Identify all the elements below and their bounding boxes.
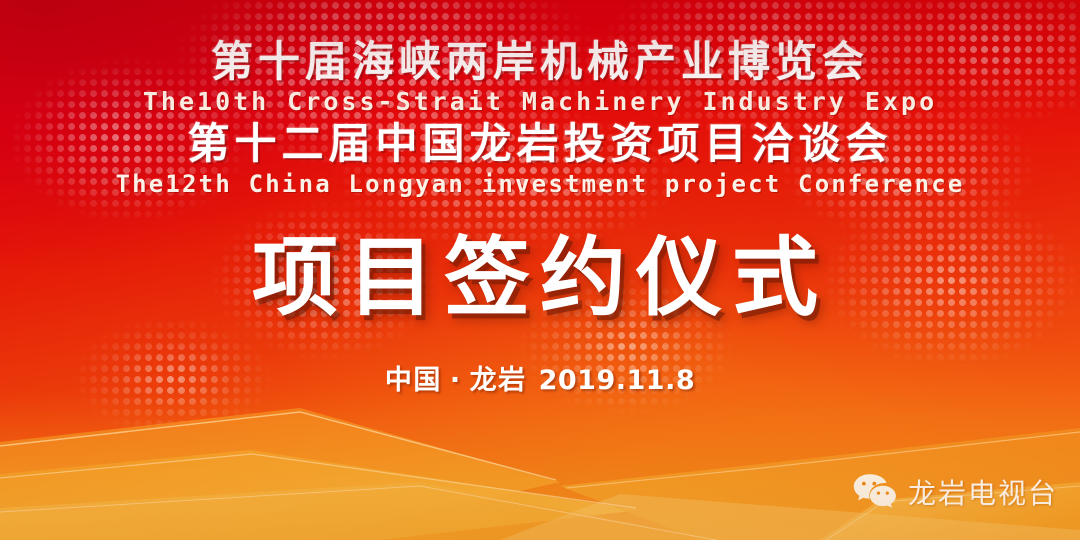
headline-cn-expo: 第十届海峡两岸机械产业博览会 [0, 38, 1080, 86]
header-text-block: 第十届海峡两岸机械产业博览会 The10th Cross-Strait Mach… [0, 38, 1080, 200]
location-city: 龙岩 [470, 365, 527, 396]
headline-en-expo: The10th Cross-Strait Machinery Industry … [0, 86, 1080, 118]
watermark: 龙岩电视台 [852, 472, 1058, 512]
location-separator: · [450, 365, 462, 396]
main-title: 项目签约仪式 [0, 228, 1080, 328]
watermark-label: 龙岩电视台 [908, 472, 1058, 512]
date-location-line: 中国·龙岩2019.11.8 [0, 365, 1080, 397]
ribbon-band-decoration [0, 390, 1080, 540]
location-country: 中国 [385, 365, 442, 396]
event-banner: 第十届海峡两岸机械产业博览会 The10th Cross-Strait Mach… [0, 0, 1080, 540]
wechat-icon [852, 472, 898, 512]
headline-en-conference: The12th China Longyan investment project… [0, 168, 1080, 200]
headline-cn-conference: 第十二届中国龙岩投资项目洽谈会 [0, 120, 1080, 168]
event-date: 2019.11.8 [539, 365, 696, 396]
